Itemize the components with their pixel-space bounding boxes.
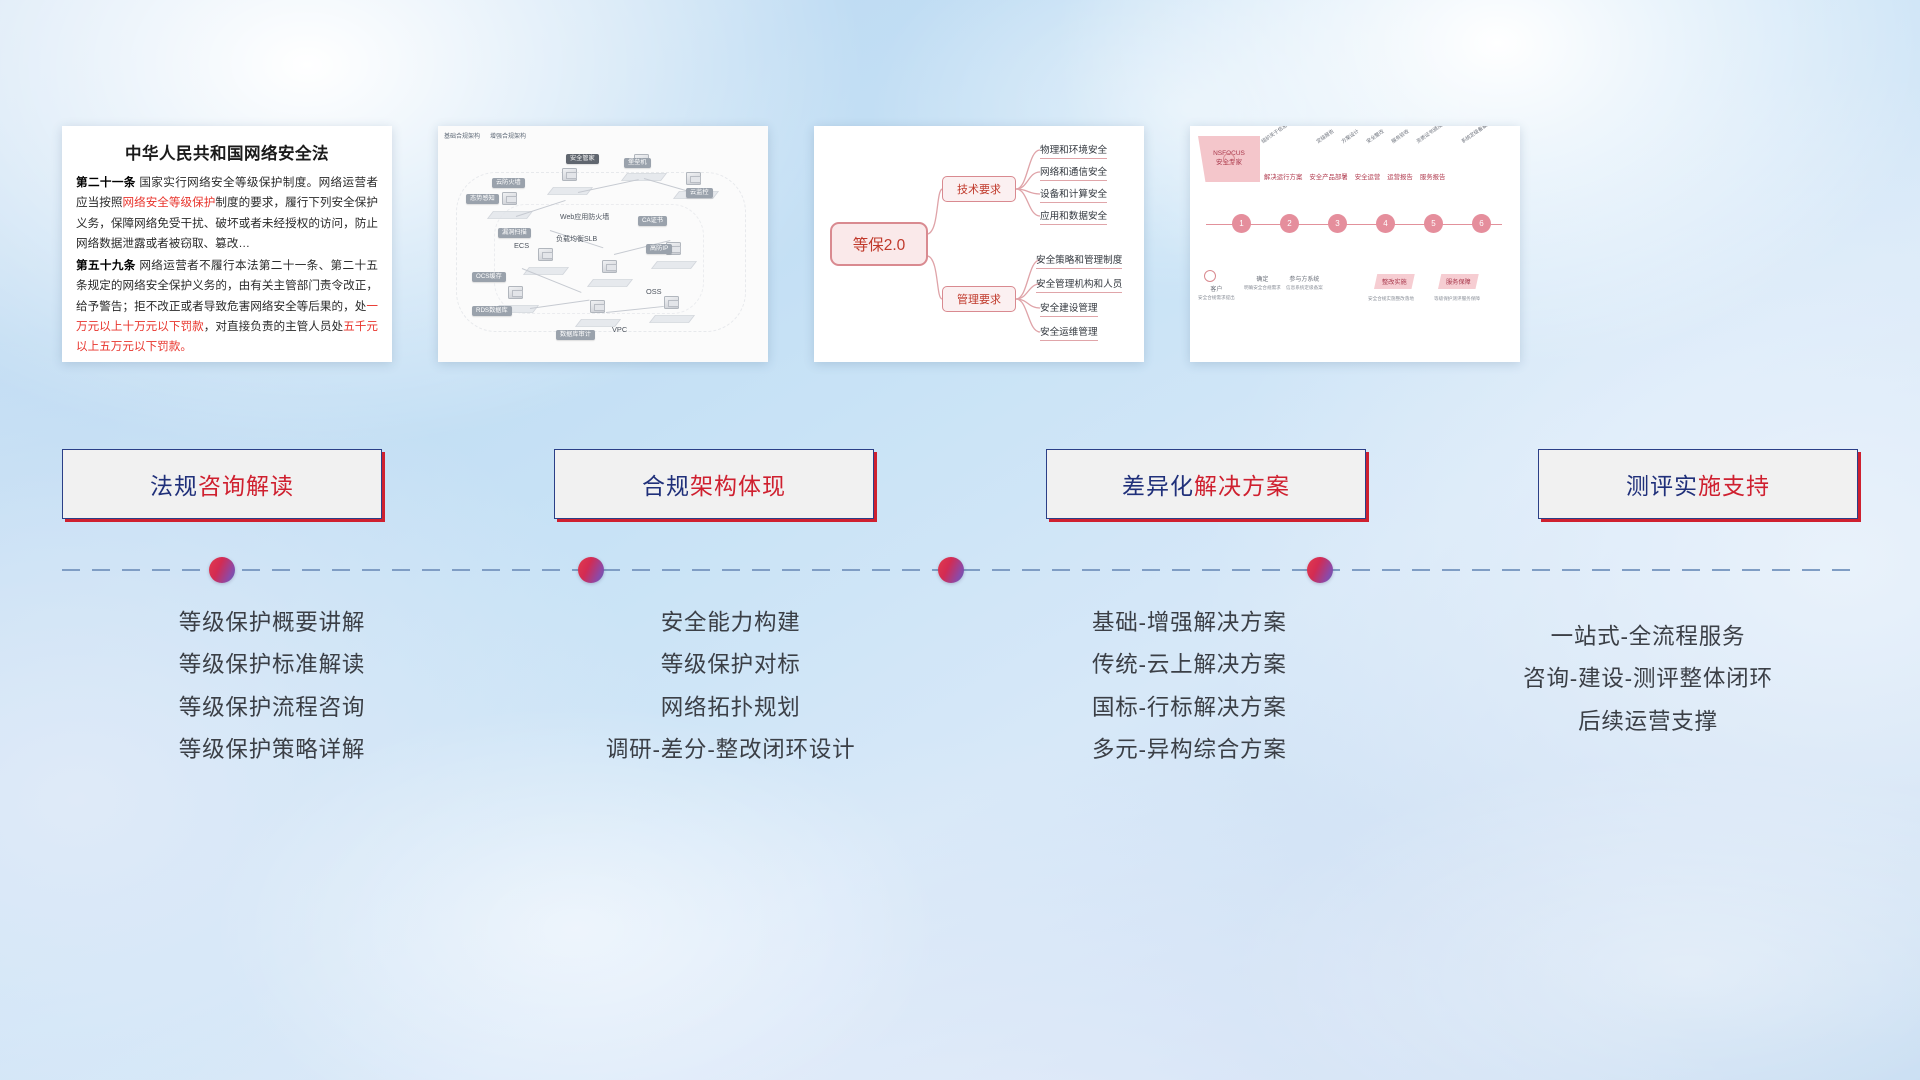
- stage-label-2[interactable]: 合规架构体现: [554, 449, 874, 519]
- law-article-number-59: 第五十九条: [76, 259, 136, 272]
- ns-chip: 服务报告: [1420, 172, 1446, 181]
- arch-node-ca-cert: CA证书: [638, 216, 667, 226]
- image-cards-row: 中华人民共和国网络安全法 第二十一条 国家实行网络安全等级保护制度。网络运营者应…: [62, 126, 1858, 362]
- bullet-item: 网络拓扑规划: [661, 693, 801, 723]
- ns-footer-sub: 信息系统定级备案: [1286, 285, 1323, 292]
- bullet-item: 国标-行标解决方案: [1092, 693, 1287, 723]
- ns-top-label: 组织关于信息系统定级: [1260, 126, 1305, 145]
- mindmap-leaf: 安全运维管理: [1040, 324, 1098, 341]
- stage-label-1-navy: 法规: [150, 473, 198, 499]
- law-paragraph-59: 第五十九条 网络运营者不履行本法第二十一条、第二十五条规定的网络安全保护义务的，…: [76, 256, 378, 357]
- law-card-body: 第二十一条 国家实行网络安全等级保护制度。网络运营者应当按照网络安全等级保护制度…: [76, 173, 378, 358]
- bullet-item: 等级保护对标: [661, 650, 801, 680]
- arch-server-icon: [508, 286, 523, 299]
- nsfocus-tag-sub: 安全合规实施整改落地: [1368, 296, 1414, 303]
- bullet-column-2: 安全能力构建 等级保护对标 网络拓扑规划 调研-差分-整改闭环设计: [521, 600, 941, 830]
- ns-top-label: 安全整改: [1365, 128, 1385, 145]
- law-text-seg: ，对直接负责的主管人员处: [204, 320, 343, 333]
- stage-label-2-red: 架构体现: [690, 473, 786, 499]
- arch-server-icon: [538, 248, 553, 261]
- stage-bullet-columns: 等级保护概要讲解 等级保护标准解读 等级保护流程咨询 等级保护策略详解 安全能力…: [62, 600, 1858, 830]
- arch-server-icon: [502, 192, 517, 205]
- expert-avatar-icon: [1223, 153, 1235, 165]
- ns-step-dot: 3: [1328, 214, 1347, 233]
- mindmap-leaf: 安全建设管理: [1040, 300, 1098, 317]
- timeline-dot-3[interactable]: [938, 557, 964, 583]
- bullet-item: 多元-异构综合方案: [1092, 735, 1287, 765]
- customer-avatar-icon: [1204, 270, 1216, 282]
- mindmap-leaf: 安全管理机构和人员: [1036, 276, 1122, 293]
- arch-server-icon: [664, 296, 679, 309]
- law-paragraph-21: 第二十一条 国家实行网络安全等级保护制度。网络运营者应当按照网络安全等级保护制度…: [76, 173, 378, 254]
- bullet-column-3: 基础-增强解决方案 传统-云上解决方案 国标-行标解决方案 多元-异构综合方案: [979, 600, 1399, 830]
- ns-chip: 安全运营: [1355, 172, 1381, 181]
- mindmap-leaf: 安全策略和管理制度: [1036, 252, 1122, 269]
- mindmap-leaf: 物理和环境安全: [1040, 142, 1107, 159]
- nsfocus-tag: 整改实施: [1374, 274, 1415, 289]
- arch-node-safety-butler: 安全管家: [566, 154, 599, 164]
- arch-plate: [587, 279, 633, 287]
- bullet-item: 等级保护标准解读: [179, 650, 365, 680]
- ns-top-label: 服务验收: [1390, 128, 1410, 145]
- nsfocus-chips: 解决运行方案 安全产品部署 安全运营 运营报告 服务报告: [1264, 172, 1445, 181]
- mindmap-branch-management: 管理要求: [942, 286, 1016, 312]
- arch-plate: [649, 315, 695, 323]
- ns-step-dot: 4: [1376, 214, 1395, 233]
- timeline-dot-4[interactable]: [1307, 557, 1333, 583]
- mindmap-leaf: 网络和通信安全: [1040, 164, 1107, 181]
- arch-server-icon: [562, 168, 577, 181]
- timeline-dot-1[interactable]: [209, 557, 235, 583]
- timeline-dot-2[interactable]: [578, 557, 604, 583]
- ns-top-label: 资质证书颁发备案: [1415, 126, 1452, 145]
- nsfocus-tag-sub: 等级保护测评服务保障: [1434, 296, 1480, 303]
- ns-top-label: 方案设计: [1340, 128, 1360, 145]
- arch-node-cloud-monitor: 云监控: [686, 188, 713, 198]
- bullet-item: 调研-差分-整改闭环设计: [606, 735, 856, 765]
- mindmap-leaf: 应用和数据安全: [1040, 208, 1107, 225]
- ns-footer-label: 参与方系统: [1286, 276, 1323, 285]
- bullet-item: 一站式-全流程服务: [1551, 622, 1746, 652]
- mindmap-root-node: 等保2.0: [830, 222, 928, 266]
- bullet-column-4: 一站式-全流程服务 咨询-建设-测评整体闭环 后续运营支撑: [1438, 600, 1858, 830]
- stage-label-3[interactable]: 差异化解决方案: [1046, 449, 1366, 519]
- stage-label-1-red: 咨询解读: [198, 473, 294, 499]
- arch-server-icon: [602, 260, 617, 273]
- bullet-item: 传统-云上解决方案: [1092, 650, 1287, 680]
- mindmap-leaf: 设备和计算安全: [1040, 186, 1107, 203]
- bullet-item: 安全能力构建: [661, 608, 801, 638]
- bullet-item: 后续运营支撑: [1578, 707, 1718, 737]
- stage-label-2-navy: 合规: [642, 473, 690, 499]
- law-card-title: 中华人民共和国网络安全法: [76, 140, 378, 164]
- ns-step-dot: 5: [1424, 214, 1443, 233]
- stage-label-3-red: 解决方案: [1194, 473, 1290, 499]
- card-mindmap-dengbao[interactable]: 等保2.0 技术要求 管理要求 物理和环境安全 网络和通信安全 设备和计算安全 …: [814, 126, 1144, 362]
- arch-node-ocs-cache: OCS缓存: [472, 272, 506, 282]
- arch-node-slb: 负载均衡SLB: [556, 236, 597, 243]
- bullet-item: 等级保护流程咨询: [179, 693, 365, 723]
- ns-step-dot: 6: [1472, 214, 1491, 233]
- ns-footer-sub: 明确安全合规需求: [1244, 285, 1281, 292]
- ns-footer-label: 确定: [1244, 276, 1281, 285]
- stage-label-4-text: 测评实施支持: [1626, 467, 1770, 501]
- nsfocus-brand-block: NSFOCUS 安全专家: [1198, 136, 1260, 182]
- slide-stage: 中华人民共和国网络安全法 第二十一条 国家实行网络安全等级保护制度。网络运营者应…: [0, 0, 1920, 1080]
- ns-chip: 运营报告: [1387, 172, 1413, 181]
- stage-label-4[interactable]: 测评实施支持: [1538, 449, 1858, 519]
- stage-label-1-text: 法规咨询解读: [150, 467, 294, 501]
- nsfocus-tag: 服务保障: [1438, 274, 1479, 289]
- law-highlight-seg: 网络安全等级保护: [122, 196, 215, 209]
- bullet-column-1: 等级保护概要讲解 等级保护标准解读 等级保护流程咨询 等级保护策略详解: [62, 600, 482, 830]
- ns-chip: 解决运行方案: [1264, 172, 1302, 181]
- ns-footer-sub: 安全合规需求提出: [1198, 295, 1235, 302]
- ns-step-dot: 1: [1232, 214, 1251, 233]
- bullet-item: 咨询-建设-测评整体闭环: [1523, 664, 1773, 694]
- ns-top-label: 定级报告: [1315, 128, 1335, 145]
- ns-top-label: 系统定级备案上报省级主管部门: [1460, 126, 1520, 145]
- nsfocus-footer-item: 参与方系统 信息系统定级备案: [1286, 276, 1323, 292]
- stage-label-2-text: 合规架构体现: [642, 467, 786, 501]
- bullet-item: 基础-增强解决方案: [1092, 608, 1287, 638]
- law-article-number-21: 第二十一条: [76, 176, 136, 189]
- mindmap-branch-technical: 技术要求: [942, 176, 1016, 202]
- arch-node-oss: OSS: [646, 288, 662, 295]
- arch-node-situational: 态势感知: [466, 194, 499, 204]
- arch-node-vpc: VPC: [612, 326, 627, 333]
- ns-chip: 安全产品部署: [1309, 172, 1347, 181]
- bullet-item: 等级保护概要讲解: [179, 608, 365, 638]
- arch-server-icon: [590, 300, 605, 313]
- bullet-item: 等级保护策略详解: [179, 735, 365, 765]
- ns-footer-label: 客户: [1198, 286, 1235, 295]
- arch-node-waf: Web应用防火墙: [560, 214, 609, 221]
- card-compliance-architecture[interactable]: 基础合规架构 增强合规架构: [438, 126, 768, 362]
- stage-label-4-red: 施支持: [1698, 473, 1770, 499]
- nsfocus-footer-item: 确定 明确安全合规需求: [1244, 276, 1281, 292]
- card-cybersecurity-law[interactable]: 中华人民共和国网络安全法 第二十一条 国家实行网络安全等级保护制度。网络运营者应…: [62, 126, 392, 362]
- stage-labels-row: 法规咨询解读 合规架构体现 差异化解决方案 测评实施支持: [62, 449, 1858, 519]
- arch-node-vuln-scan: 漏洞扫描: [498, 228, 531, 238]
- arch-node-anti-ddos: 高防IP: [646, 244, 672, 254]
- stage-timeline: [62, 568, 1858, 572]
- stage-label-3-navy: 差异化: [1122, 473, 1194, 499]
- stage-label-3-text: 差异化解决方案: [1122, 467, 1290, 501]
- card-nsfocus-timeline[interactable]: NSFOCUS 安全专家 组织关于信息系统定级 定级报告 方案设计 安全整改 服…: [1190, 126, 1520, 362]
- architecture-canvas: 安全管家 云防火墙 态势感知 堡垒机 云监控 漏洞扫描 CA证书 高防IP We…: [438, 126, 768, 362]
- arch-node-rds: RDS数据库: [472, 306, 512, 316]
- arch-server-icon: [686, 172, 701, 185]
- arch-plate: [651, 261, 697, 269]
- ns-step-dot: 2: [1280, 214, 1299, 233]
- stage-label-4-navy: 测评实: [1626, 473, 1698, 499]
- nsfocus-top-labels: 组织关于信息系统定级 定级报告 方案设计 安全整改 服务验收 资质证书颁发备案 …: [1264, 138, 1520, 145]
- arch-node-db-audit: 数据库审计: [556, 330, 595, 340]
- arch-node-ecs: ECS: [514, 242, 529, 249]
- nsfocus-footer-left: 客户 安全合规需求提出: [1198, 286, 1235, 302]
- arch-node-bastion: 堡垒机: [624, 158, 651, 168]
- arch-node-cloud-fw: 云防火墙: [492, 178, 525, 188]
- stage-label-1[interactable]: 法规咨询解读: [62, 449, 382, 519]
